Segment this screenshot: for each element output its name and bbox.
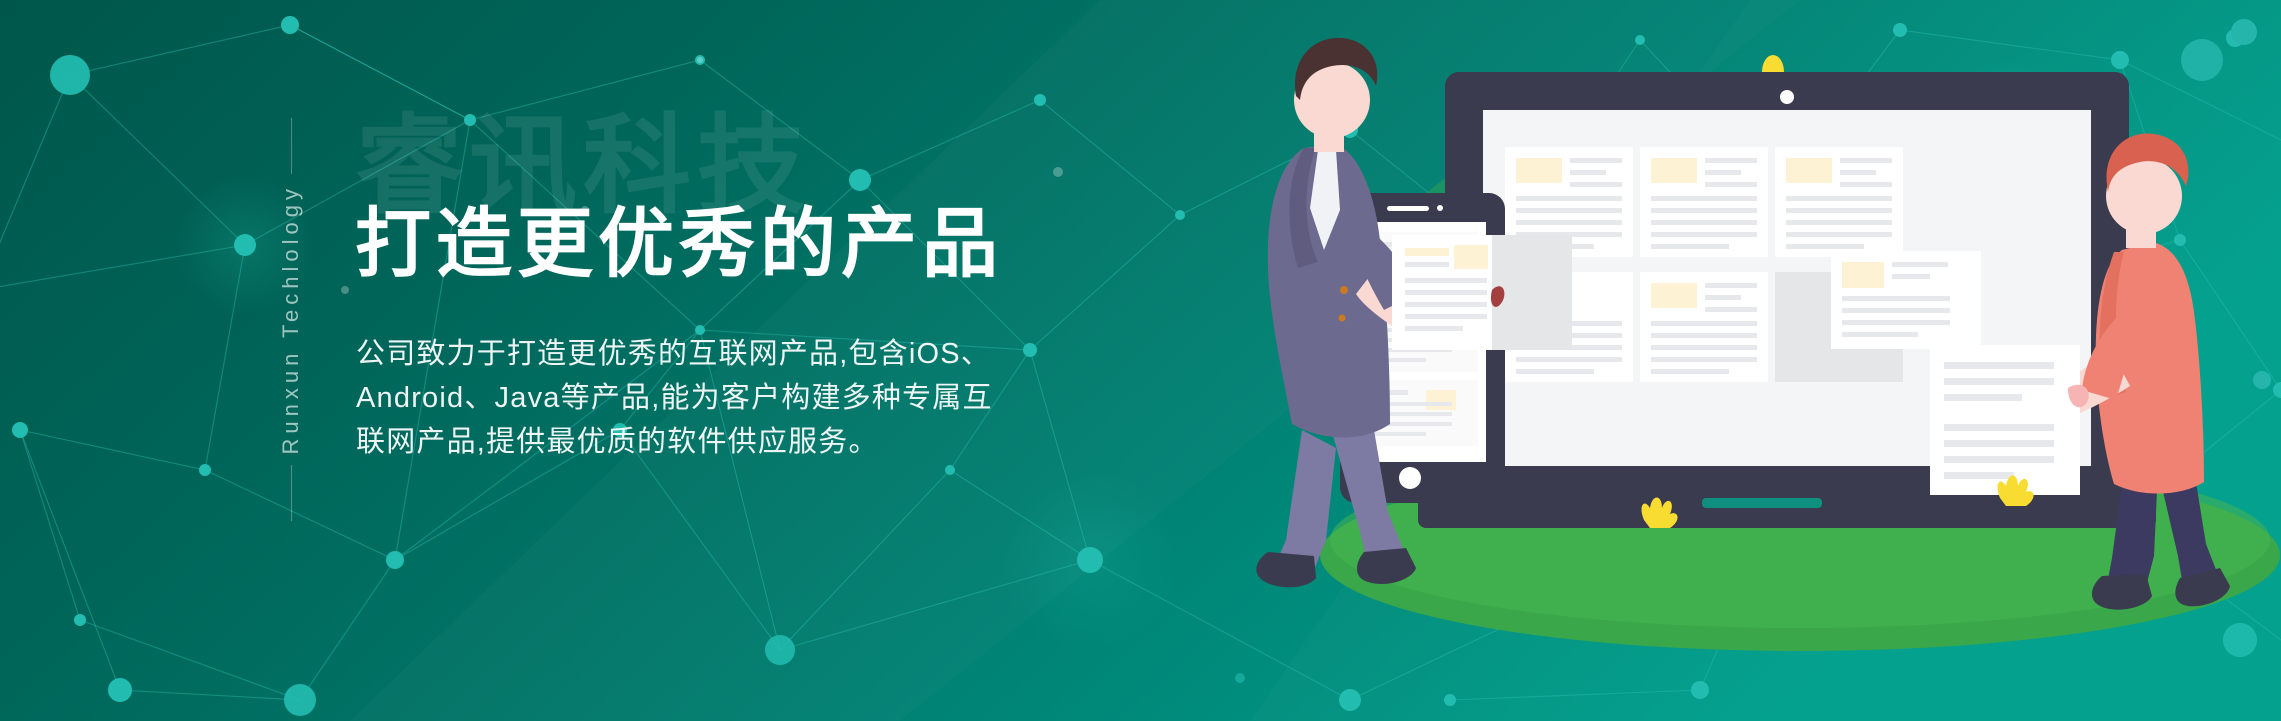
floating-card xyxy=(1392,235,1572,350)
divider-top xyxy=(291,118,292,174)
content-card xyxy=(1640,272,1768,382)
phone-home-button xyxy=(1399,467,1421,489)
floating-card xyxy=(1831,251,1981,349)
divider-bottom xyxy=(291,465,292,521)
page-title: 打造更优秀的产品 xyxy=(355,203,1003,287)
copy-block: Runxun Techlology 睿讯科技 打造更优秀的产品 公司致力于打造更… xyxy=(0,0,1200,721)
description-paragraph: 公司致力于打造更优秀的互联网产品,包含iOS、 Android、Java等产品,… xyxy=(356,332,1156,464)
paragraph-line: 公司致力于打造更优秀的互联网产品,包含iOS、 xyxy=(356,332,1156,376)
content-card xyxy=(1775,147,1903,257)
brand-vertical-text: Runxun Techlology xyxy=(278,184,304,455)
bokeh-dot xyxy=(2181,39,2223,81)
paragraph-line: 联网产品,提供最优质的软件供应服务。 xyxy=(356,420,1156,464)
content-card xyxy=(1640,147,1768,257)
laptop-camera-dot xyxy=(1780,90,1794,104)
bokeh-dot xyxy=(2253,371,2271,389)
floating-card xyxy=(1930,345,2089,495)
hero-banner: Runxun Techlology 睿讯科技 打造更优秀的产品 公司致力于打造更… xyxy=(0,0,2281,721)
bokeh-dot xyxy=(2231,19,2257,45)
brand-vertical-group: Runxun Techlology xyxy=(268,118,314,538)
hero-illustration xyxy=(1240,0,2281,721)
paragraph-line: Android、Java等产品,能为客户构建多种专属互 xyxy=(356,376,1156,420)
